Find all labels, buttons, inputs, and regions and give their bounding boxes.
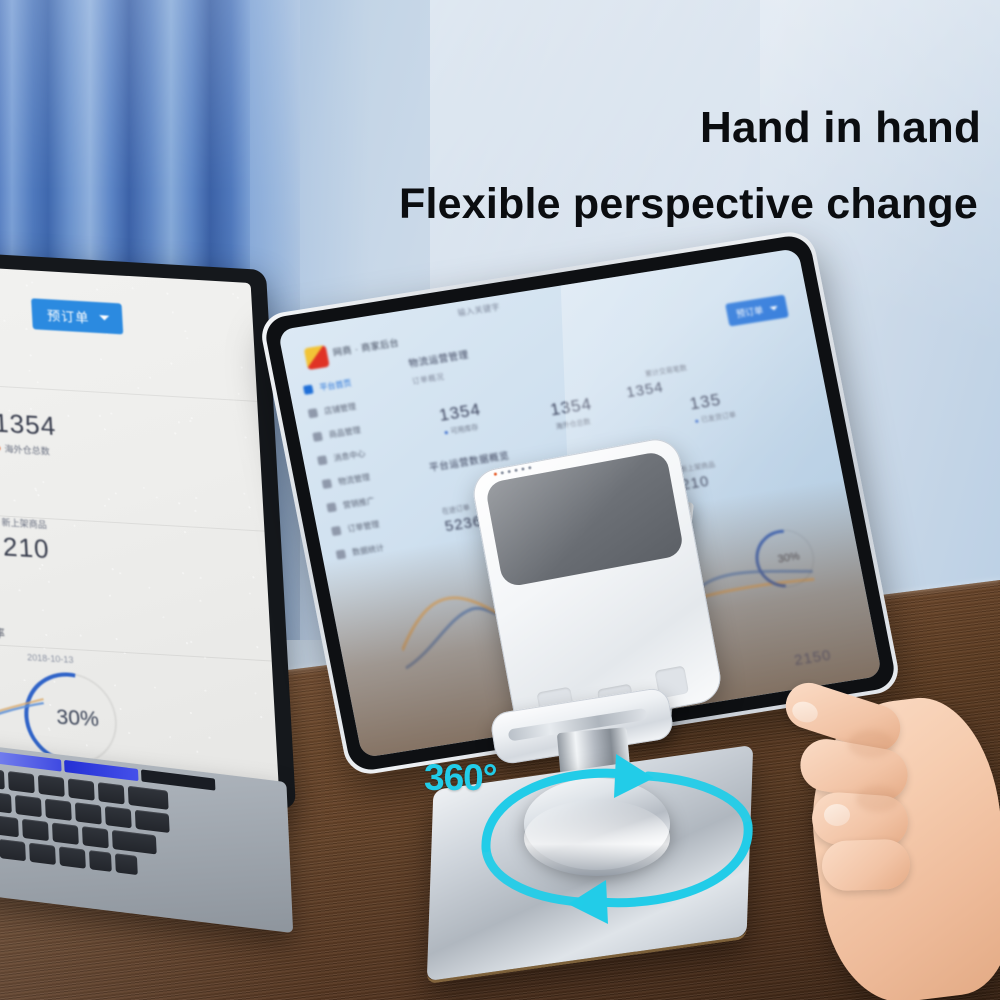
headline-line-1: Hand in hand xyxy=(700,103,981,153)
laptop-lid: 预订单 35 可通海外仓库存 1354 海外仓总数 xyxy=(0,247,296,809)
keyboard-key-shift[interactable] xyxy=(112,830,157,855)
little-finger xyxy=(821,838,911,891)
keyboard-key-return[interactable] xyxy=(135,810,170,833)
truck-icon xyxy=(322,479,333,489)
status-dot-icon xyxy=(494,472,497,475)
sidebar-item-home[interactable]: 平台首页 xyxy=(303,373,384,396)
keyboard-key-arrow[interactable] xyxy=(115,853,138,875)
status-dot-icon xyxy=(0,445,1,450)
search-input[interactable]: 输入关键字 xyxy=(457,301,501,318)
status-dot-icon xyxy=(521,467,524,470)
list-icon xyxy=(331,526,342,536)
sidebar-item-label: 物流管理 xyxy=(337,472,371,488)
app-brand-name: 网商 · 商家后台 xyxy=(332,336,400,359)
laptop: 预订单 35 可通海外仓库存 1354 海外仓总数 xyxy=(0,258,300,818)
keyboard-key[interactable] xyxy=(0,791,12,813)
keyboard-key[interactable] xyxy=(59,846,86,868)
sidebar-item-shop[interactable]: 店铺管理 xyxy=(307,396,388,419)
keyboard-key[interactable] xyxy=(98,782,125,804)
laptop-stat-label-text: 海外仓总数 xyxy=(4,442,50,458)
sidebar-item-label: 营销推广 xyxy=(342,495,376,511)
tablet-stat-label-text: 可用库存 xyxy=(450,422,480,436)
laptop-stat-value: 210 xyxy=(2,531,50,565)
keyboard-key[interactable] xyxy=(45,799,72,821)
laptop-stat: 1354 海外仓总数 xyxy=(0,408,58,459)
touchbar-segment[interactable] xyxy=(64,760,138,781)
headline-line-2: Flexible perspective change xyxy=(399,180,978,229)
keyboard-key-arrow[interactable] xyxy=(89,850,112,872)
product-marketing-image: Hand in hand Flexible perspective change… xyxy=(0,0,1000,1000)
sidebar-item-marketing[interactable]: 营销推广 xyxy=(326,490,407,513)
keyboard-key[interactable] xyxy=(38,775,65,797)
keyboard-key[interactable] xyxy=(8,771,35,793)
keyboard-key[interactable] xyxy=(29,843,56,865)
bell-icon xyxy=(317,455,328,465)
sidebar-item-orders[interactable]: 订单管理 xyxy=(331,514,412,537)
section-subtitle: 订单概况 xyxy=(411,371,445,387)
laptop-screen: 预订单 35 可通海外仓库存 1354 海外仓总数 xyxy=(0,262,279,793)
section-title: 物流运营管理 xyxy=(407,347,470,370)
knuckle-shadow xyxy=(848,730,894,758)
sidebar-item-label: 商品管理 xyxy=(328,425,362,441)
keyboard-key[interactable] xyxy=(15,795,42,817)
status-dot-icon xyxy=(528,466,531,469)
sidebar-item-messages[interactable]: 消息中心 xyxy=(317,443,398,466)
sidebar-item-label: 订单管理 xyxy=(347,519,381,535)
status-dot-icon xyxy=(501,471,504,474)
keyboard-key[interactable] xyxy=(0,767,5,789)
status-dot-icon xyxy=(507,470,510,473)
keyboard-key[interactable] xyxy=(22,819,49,841)
sidebar-item-label: 平台首页 xyxy=(319,378,353,394)
laptop-sparkline-chart xyxy=(0,660,49,759)
laptop-stat-label: 新上架商品 xyxy=(1,515,48,531)
keyboard-key[interactable] xyxy=(52,822,79,844)
rotation-degree-label: 360° xyxy=(424,757,497,799)
touchbar-segment[interactable] xyxy=(0,750,62,771)
megaphone-icon xyxy=(326,502,337,512)
status-dot-icon xyxy=(514,469,517,472)
hand-holding-tablet xyxy=(770,690,1000,1000)
keyboard-key[interactable] xyxy=(82,826,109,848)
sidebar: 平台首页 店铺管理 商品管理 xyxy=(303,373,419,574)
touchbar-segment[interactable] xyxy=(141,769,215,790)
shop-icon xyxy=(308,408,319,418)
laptop-preorder-label: 预订单 xyxy=(47,305,90,326)
home-icon xyxy=(303,385,314,395)
laptop-preorder-button[interactable]: 预订单 xyxy=(31,298,123,334)
sidebar-item-label: 店铺管理 xyxy=(323,401,357,417)
laptop-stat-value: 1354 xyxy=(0,408,57,443)
app-logo-icon xyxy=(304,345,330,370)
box-icon xyxy=(312,432,323,442)
chevron-down-icon xyxy=(99,315,109,321)
sidebar-item-label: 消息中心 xyxy=(333,448,367,464)
keyboard-key[interactable] xyxy=(105,806,132,828)
laptop-stat: 新上架商品 210 xyxy=(1,515,50,565)
knuckle-shadow xyxy=(856,786,900,812)
sidebar-item-logistics[interactable]: 物流管理 xyxy=(321,467,402,490)
keyboard-key[interactable] xyxy=(0,839,26,861)
keyboard-key[interactable] xyxy=(75,802,102,824)
status-dot-icon xyxy=(444,430,448,433)
keyboard-key[interactable] xyxy=(68,778,95,800)
sidebar-item-products[interactable]: 商品管理 xyxy=(312,420,393,443)
fingernail xyxy=(824,804,850,826)
keyboard-key[interactable] xyxy=(0,815,19,837)
keyboard-key-delete[interactable] xyxy=(128,786,169,810)
